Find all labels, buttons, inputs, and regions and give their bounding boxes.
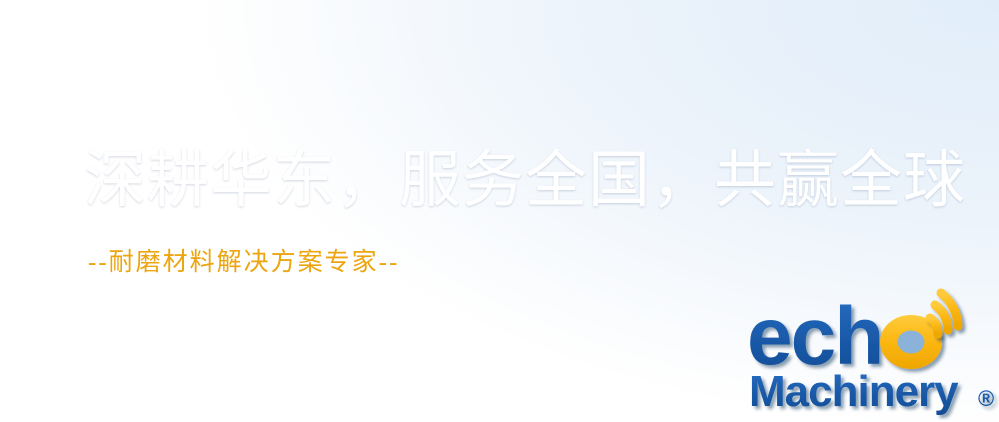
logo-signal-arcs [930,293,958,334]
hero-banner: 深耕华东，服务全国，共赢全球 --耐磨材料解决方案专家-- [0,0,999,422]
page-subtitle: --耐磨材料解决方案专家-- [84,212,966,275]
hero-copy-block: 深耕华东，服务全国，共赢全球 --耐磨材料解决方案专家-- [84,150,966,275]
page-title: 深耕华东，服务全国，共赢全球 [84,150,966,212]
company-logo[interactable]: ech Machinery ® [745,288,999,420]
logo-tagline: Machinery ® [749,367,994,416]
svg-text:®: ® [978,386,994,411]
svg-text:Machinery: Machinery [749,367,959,416]
